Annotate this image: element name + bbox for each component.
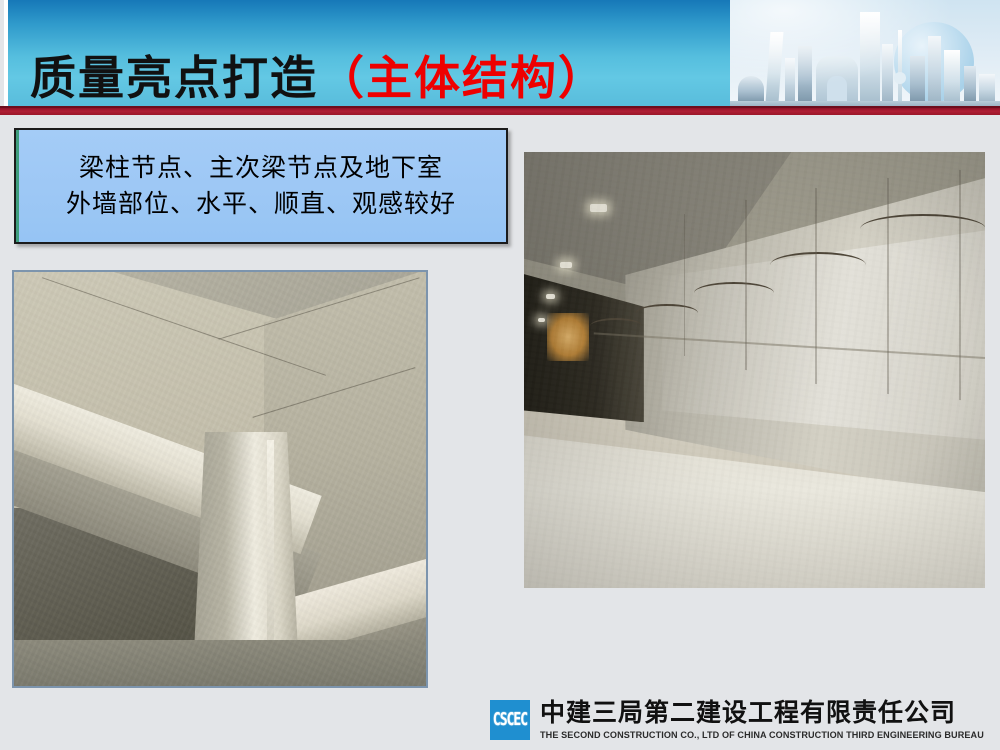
caption-box: 梁柱节点、主次梁节点及地下室 外墙部位、水平、顺直、观感较好 (14, 128, 508, 244)
caption-line-1: 梁柱节点、主次梁节点及地下室 (79, 150, 443, 186)
page-title-main: 质量亮点打造 (30, 51, 318, 105)
slide-root: 质量亮点打造（主体结构） 梁柱节点、主次梁节点及地下室 外墙部位、水平、顺直、观… (0, 0, 1000, 750)
company-name-block: 中建三局第二建设工程有限责任公司 THE SECOND CONSTRUCTION… (540, 700, 984, 739)
header-left-margin (4, 0, 8, 108)
header-accent-bar (0, 108, 1000, 115)
footer-company-logo: CSCEC 中建三局第二建设工程有限责任公司 THE SECOND CONSTR… (490, 697, 990, 743)
photo-vignette-overlay (524, 152, 985, 588)
page-title-subject: （主体结构） (318, 51, 606, 105)
photo-texture-overlay (14, 272, 426, 686)
skyline-haze-overlay (730, 0, 1000, 108)
company-name-en: THE SECOND CONSTRUCTION CO., LTD OF CHIN… (540, 730, 984, 740)
photo-basement-exterior-wall (524, 152, 985, 588)
cscec-logo-icon: CSCEC (490, 700, 530, 740)
cscec-logo-letters: CSCEC (493, 710, 527, 730)
caption-line-2: 外墙部位、水平、顺直、观感较好 (66, 186, 456, 222)
page-title: 质量亮点打造（主体结构） (30, 52, 606, 105)
slide-header: 质量亮点打造（主体结构） (4, 0, 1000, 108)
skyline-banner-image (730, 0, 1000, 108)
photo-beam-column-joint (12, 270, 428, 688)
company-name-cn: 中建三局第二建设工程有限责任公司 (540, 700, 984, 726)
caption-box-left-edge (16, 130, 19, 242)
